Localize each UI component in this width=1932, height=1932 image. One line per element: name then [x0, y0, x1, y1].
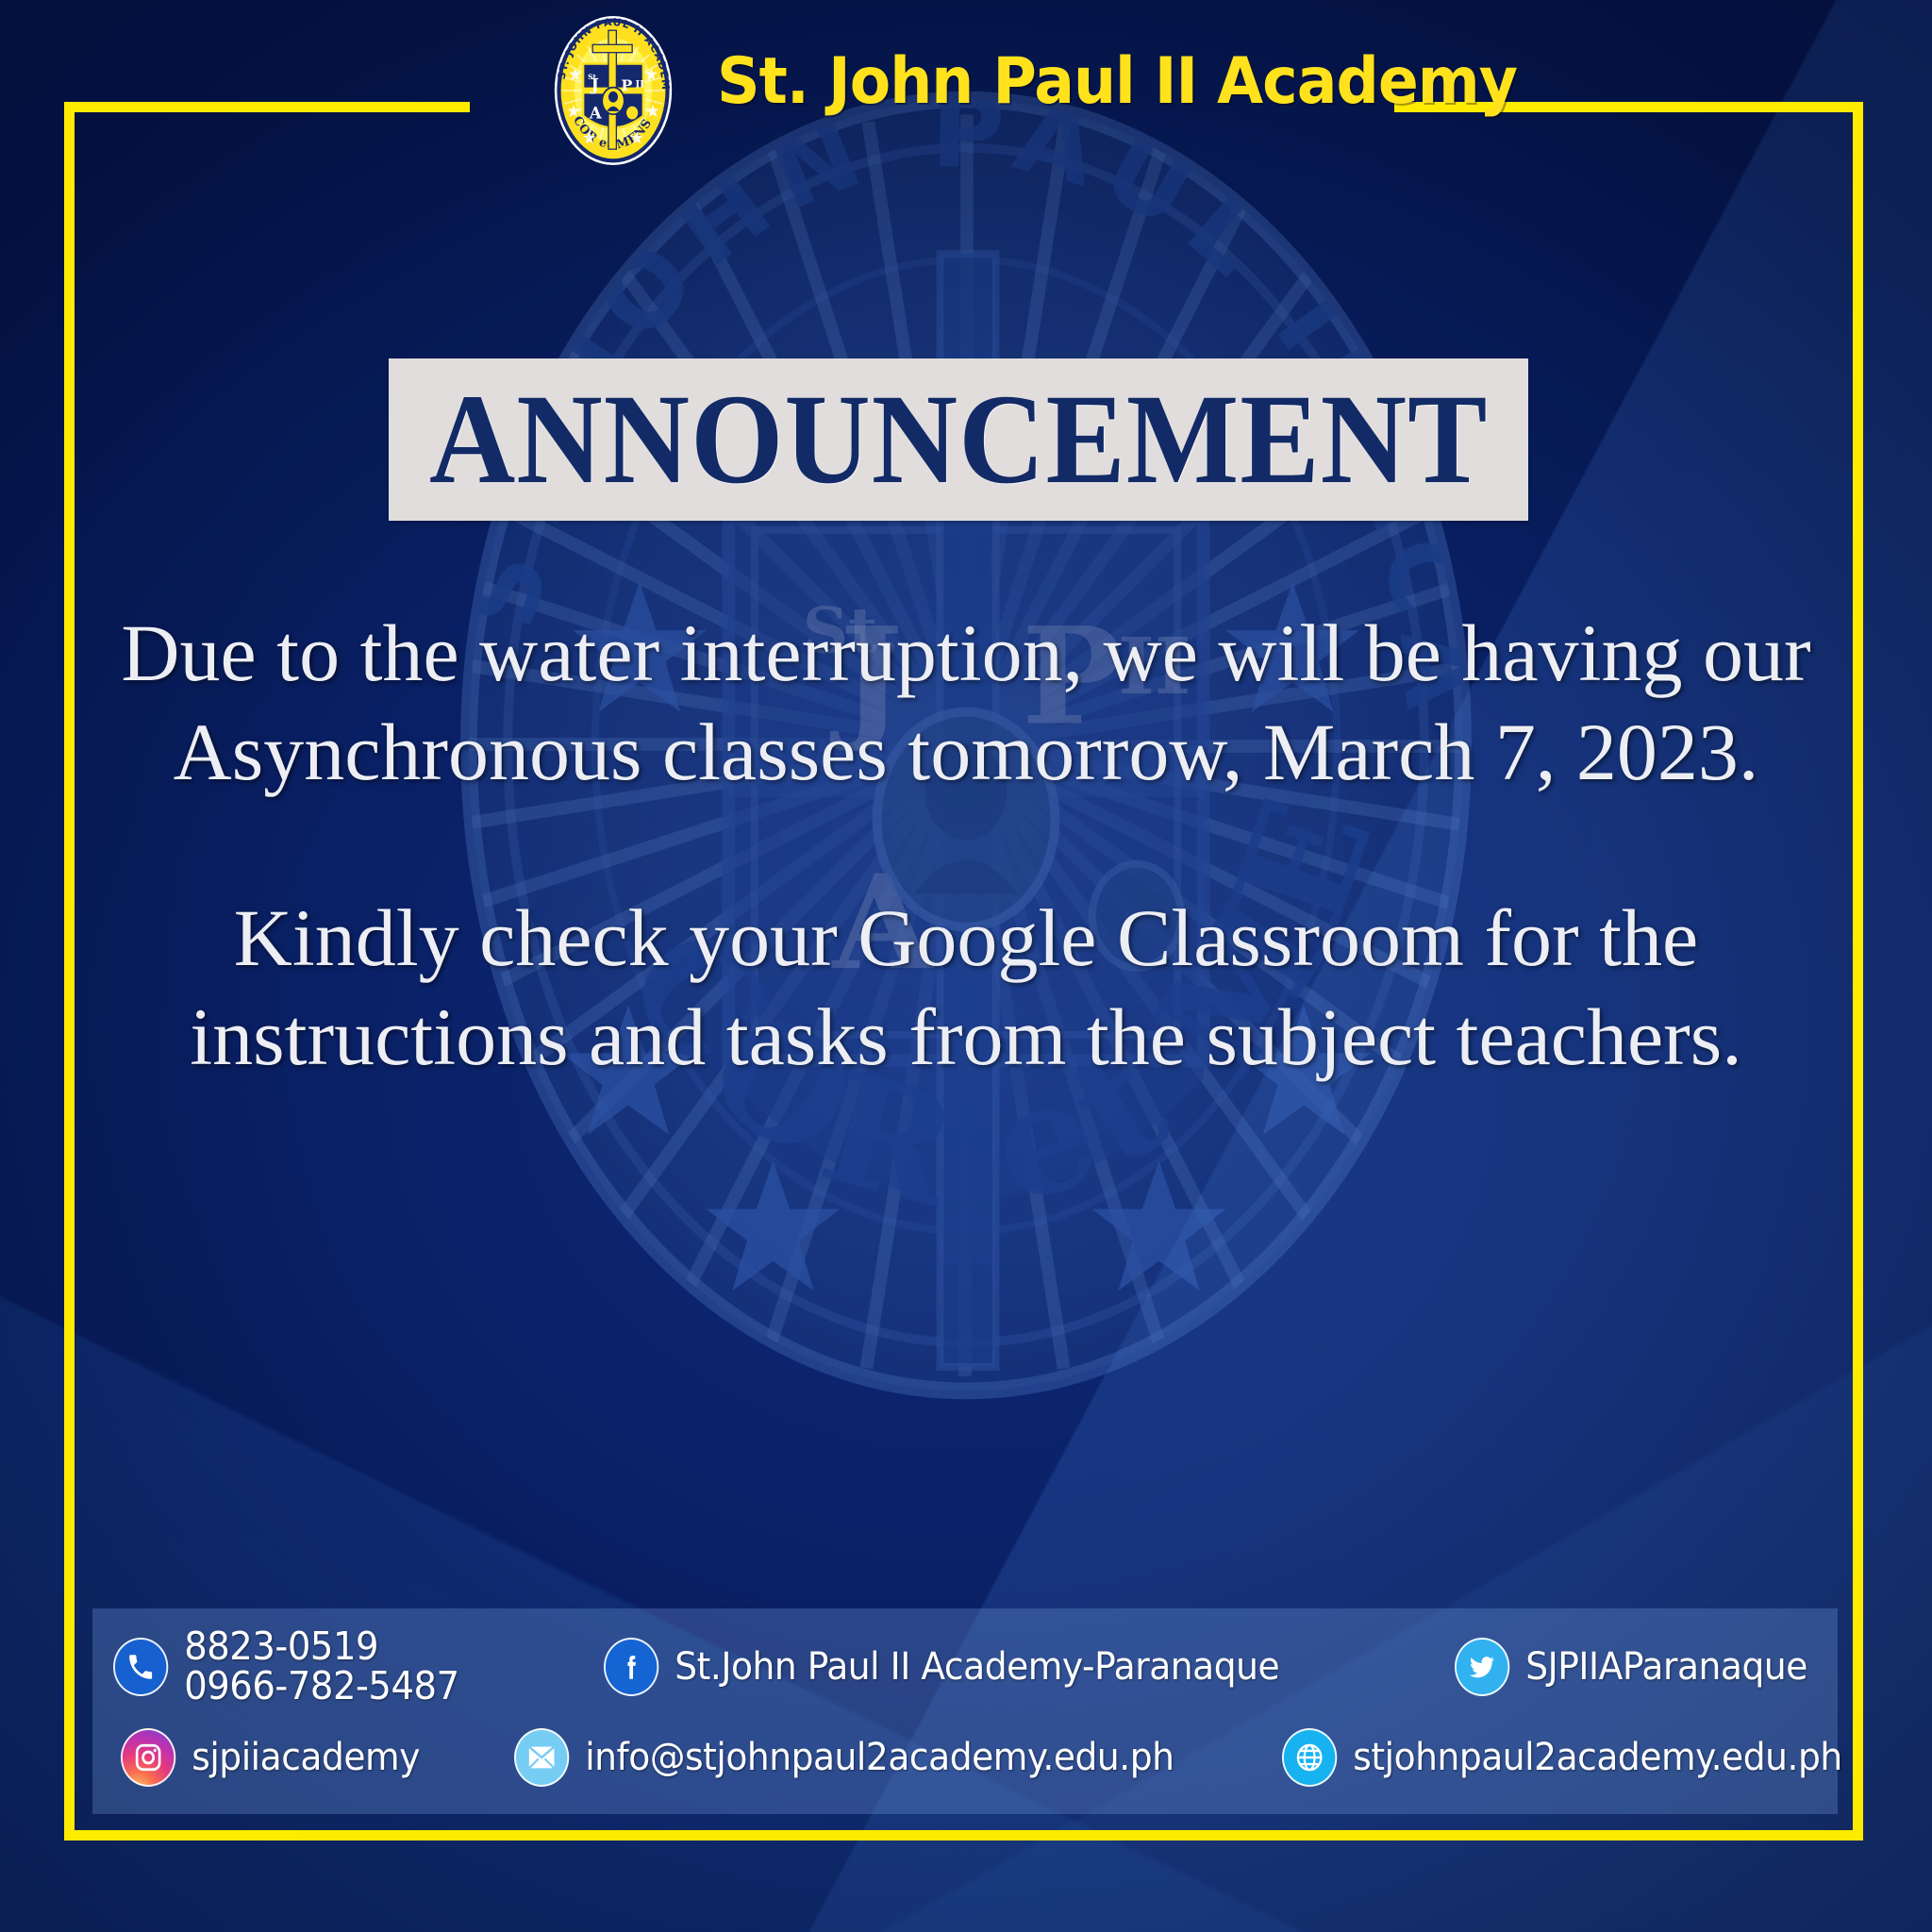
phone-icon [113, 1638, 168, 1696]
frame-right-segment [1853, 102, 1863, 1840]
mail-icon [514, 1728, 569, 1787]
announcement-banner-title: ANNOUNCEMENT [429, 375, 1488, 504]
announcement-paragraph-1: Due to the water interruption, we will b… [113, 604, 1819, 802]
phone-number-1: 8823-0519 [184, 1627, 458, 1667]
school-seal-logo: ST. JOHN PAUL II ACADEMY COR et MENS St.… [534, 11, 692, 170]
globe-icon [1282, 1728, 1337, 1787]
contact-facebook[interactable]: St.John Paul II Academy-Paranaque [604, 1638, 1279, 1696]
facebook-icon [604, 1638, 658, 1696]
announcement-body: Due to the water interruption, we will b… [113, 604, 1819, 1087]
announcement-poster: ST. JOHN PAUL II ACADEMY St. J [0, 0, 1932, 1932]
email-address: info@stjohnpaul2academy.edu.ph [585, 1738, 1174, 1777]
contact-instagram[interactable]: sjpiiacademy [121, 1728, 420, 1787]
contact-footer-bar: 8823-0519 0966-782-5487 St.John Paul II … [92, 1608, 1838, 1814]
svg-text:A: A [589, 103, 603, 122]
frame-bottom-segment [64, 1830, 1863, 1840]
phone-number-2: 0966-782-5487 [184, 1667, 458, 1707]
contact-row-bottom: sjpiiacademy info@stjohnpaul2academy.edu… [92, 1712, 1838, 1803]
contact-phone[interactable]: 8823-0519 0966-782-5487 [113, 1627, 459, 1707]
frame-left-segment [64, 102, 75, 1840]
facebook-handle: St.John Paul II Academy-Paranaque [675, 1647, 1279, 1687]
contact-row-top: 8823-0519 0966-782-5487 St.John Paul II … [92, 1622, 1838, 1712]
announcement-paragraph-2: Kindly check your Google Classroom for t… [113, 889, 1819, 1087]
twitter-icon [1455, 1638, 1509, 1696]
twitter-handle: SJPIIAParanaque [1525, 1647, 1807, 1687]
contact-website[interactable]: stjohnpaul2academy.edu.ph [1282, 1728, 1842, 1787]
svg-text:P: P [621, 76, 632, 94]
school-name-title: St. John Paul II Academy [717, 44, 1517, 119]
contact-email[interactable]: info@stjohnpaul2academy.edu.ph [514, 1728, 1174, 1787]
svg-text:II: II [636, 80, 645, 91]
svg-text:J: J [589, 75, 598, 95]
announcement-banner: ANNOUNCEMENT [389, 358, 1528, 521]
contact-twitter[interactable]: SJPIIAParanaque [1455, 1638, 1807, 1696]
instagram-handle: sjpiiacademy [192, 1738, 420, 1777]
website-url: stjohnpaul2academy.edu.ph [1354, 1738, 1843, 1777]
poster-header: ST. JOHN PAUL II ACADEMY COR et MENS St.… [0, 0, 1932, 193]
contact-phone-numbers: 8823-0519 0966-782-5487 [184, 1627, 458, 1707]
instagram-icon [121, 1728, 175, 1787]
